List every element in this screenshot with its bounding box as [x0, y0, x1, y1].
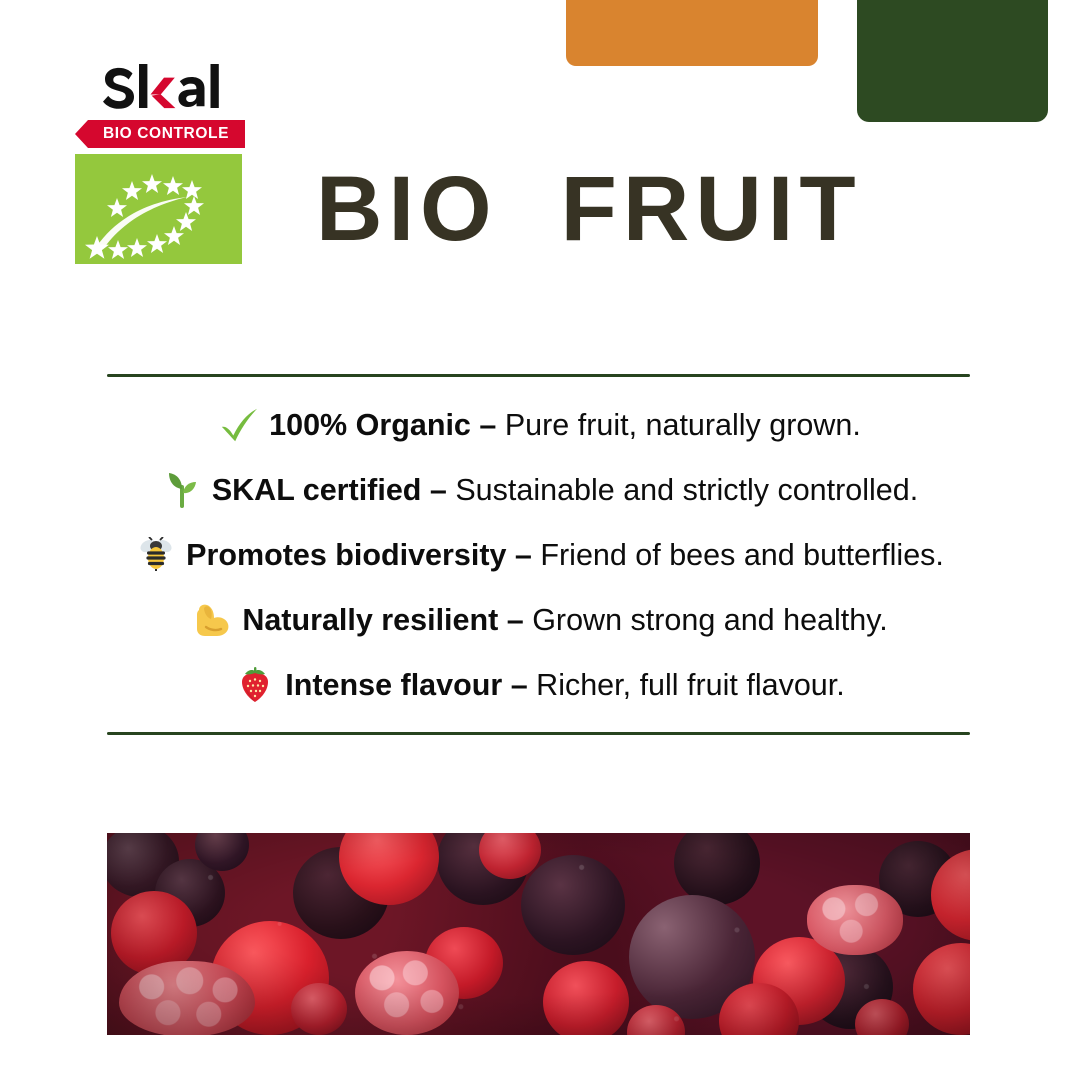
- list-item: Intense flavour – Richer, full fruit fla…: [235, 658, 844, 712]
- frozen-mixed-berries-photo: [107, 833, 970, 1035]
- benefit-lead: SKAL certified: [212, 473, 422, 507]
- benefit-rest: Friend of bees and butterflies.: [540, 538, 944, 572]
- benefit-rest: Pure fruit, naturally grown.: [505, 408, 861, 442]
- benefit-lead: 100% Organic: [269, 408, 471, 442]
- benefit-dash: –: [421, 473, 455, 507]
- orange-accent-block: [566, 0, 818, 66]
- benefit-text: Naturally resilient – Grown strong and h…: [242, 605, 887, 636]
- eu-organic-leaf-logo: [75, 154, 242, 264]
- bio-controle-label: BIO CONTROLE: [75, 120, 245, 148]
- divider-bottom: [107, 732, 970, 735]
- bio-controle-banner: BIO CONTROLE: [75, 120, 245, 148]
- divider-top: [107, 374, 970, 377]
- benefits-list: 100% Organic – Pure fruit, naturally gro…: [0, 398, 1080, 712]
- benefit-text: Promotes biodiversity – Friend of bees a…: [186, 540, 944, 571]
- skal-wordmark: [103, 63, 245, 111]
- benefit-lead: Intense flavour: [285, 668, 502, 702]
- benefit-text: SKAL certified – Sustainable and strictl…: [212, 475, 918, 506]
- benefit-lead: Naturally resilient: [242, 603, 498, 637]
- benefit-dash: –: [502, 668, 536, 702]
- seedling-icon: [162, 470, 202, 510]
- page-title: BIO FRUIT: [316, 163, 862, 255]
- benefit-rest: Grown strong and healthy.: [532, 603, 887, 637]
- bee-icon: [136, 535, 176, 575]
- list-item: Naturally resilient – Grown strong and h…: [192, 593, 887, 647]
- dark-green-accent-block: [857, 0, 1048, 122]
- check-mark-icon: [219, 405, 259, 445]
- benefit-rest: Richer, full fruit flavour.: [536, 668, 845, 702]
- skal-logo-lockup: BIO CONTROLE: [75, 63, 245, 264]
- benefit-rest: Sustainable and strictly controlled.: [455, 473, 918, 507]
- list-item: SKAL certified – Sustainable and strictl…: [162, 463, 918, 517]
- benefit-dash: –: [506, 538, 540, 572]
- flexed-biceps-icon: [192, 600, 232, 640]
- list-item: 100% Organic – Pure fruit, naturally gro…: [219, 398, 861, 452]
- benefit-dash: –: [471, 408, 505, 442]
- list-item: Promotes biodiversity – Friend of bees a…: [136, 528, 944, 582]
- benefit-text: Intense flavour – Richer, full fruit fla…: [285, 670, 844, 701]
- benefit-dash: –: [498, 603, 532, 637]
- strawberry-icon: [235, 665, 275, 705]
- benefit-text: 100% Organic – Pure fruit, naturally gro…: [269, 410, 861, 441]
- benefit-lead: Promotes biodiversity: [186, 538, 506, 572]
